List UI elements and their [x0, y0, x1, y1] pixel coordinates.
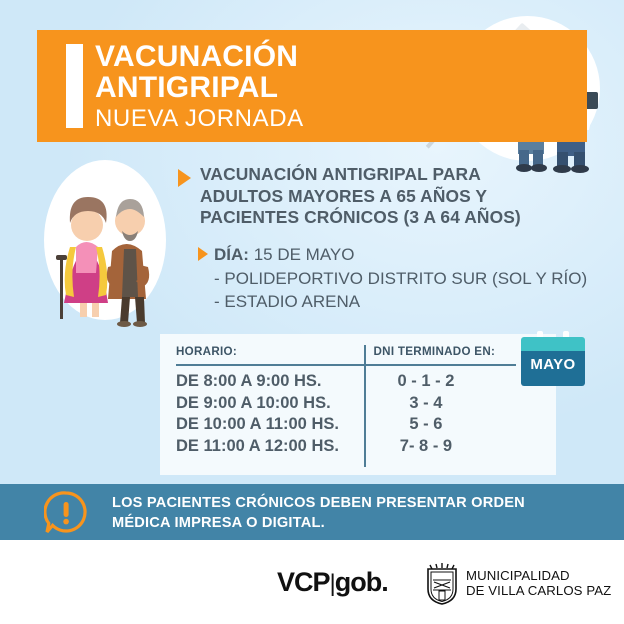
day-value: 15 DE MAYO [254, 245, 355, 264]
header-title: VACUNACIÓN ANTIGRIPAL [95, 41, 298, 103]
day-block: DÍA: 15 DE MAYO - POLIDEPORTIVO DISTRITO… [198, 243, 587, 314]
header-title-line1: VACUNACIÓN [95, 41, 298, 72]
day-details: DÍA: 15 DE MAYO - POLIDEPORTIVO DISTRITO… [214, 243, 587, 314]
arrow-marker-icon [198, 247, 208, 261]
municipality-name: MUNICIPALIDAD DE VILLA CARLOS PAZ [466, 568, 611, 598]
table-row: DE 8:00 A 9:00 HS. 0 - 1 - 2 [176, 371, 528, 393]
lead-line-1: VACUNACIÓN ANTIGRIPAL PARA [200, 164, 521, 186]
lead-block: VACUNACIÓN ANTIGRIPAL PARA ADULTOS MAYOR… [178, 164, 521, 229]
cell-time: DE 11:00 A 12:00 HS. [176, 436, 352, 458]
table-header-row: HORARIO: DNI TERMINADO EN: [176, 345, 528, 364]
lead-text: VACUNACIÓN ANTIGRIPAL PARA ADULTOS MAYOR… [200, 164, 521, 229]
venue-2: - ESTADIO ARENA [214, 290, 587, 314]
elderly-couple-illustration [40, 155, 172, 327]
municipality-line-2: DE VILLA CARLOS PAZ [466, 583, 611, 598]
cell-time: DE 10:00 A 11:00 HS. [176, 414, 352, 436]
arrow-marker-icon [178, 169, 191, 187]
notice-line-1: LOS PACIENTES CRÓNICOS DEBEN PRESENTAR O… [112, 493, 525, 513]
notice-text: LOS PACIENTES CRÓNICOS DEBEN PRESENTAR O… [112, 493, 525, 533]
vcp-brand: VCP [277, 567, 330, 597]
header-banner: VACUNACIÓN ANTIGRIPAL NUEVA JORNADA [37, 30, 587, 142]
vcp-gob-logo: VCP|gob. [277, 567, 388, 598]
header-accent-bar [66, 44, 83, 128]
table-row: DE 11:00 A 12:00 HS. 7- 8 - 9 [176, 436, 528, 458]
table-column-divider [364, 345, 366, 467]
venue-1: - POLIDEPORTIVO DISTRITO SUR (SOL Y RÍO) [214, 267, 587, 291]
day-label: DÍA: [214, 245, 249, 264]
cell-dni: 7- 8 - 9 [352, 436, 528, 458]
table-header-rule [176, 364, 516, 366]
exclamation-bubble-icon [44, 491, 88, 535]
calendar-month-label: MAYO [521, 356, 585, 373]
poster: VACUNACIÓN ANTIGRIPAL NUEVA JORNADA [0, 0, 624, 624]
header-title-line2: ANTIGRIPAL [95, 72, 298, 103]
column-header-time: HORARIO: [176, 345, 359, 358]
coat-of-arms-icon [424, 561, 460, 605]
cell-dni: 0 - 1 - 2 [352, 371, 528, 393]
schedule-table: HORARIO: DNI TERMINADO EN: DE 8:00 A 9:0… [176, 345, 528, 457]
table-row: DE 9:00 A 10:00 HS. 3 - 4 [176, 393, 528, 415]
table-row: DE 10:00 A 11:00 HS. 5 - 6 [176, 414, 528, 436]
table-body: DE 8:00 A 9:00 HS. 0 - 1 - 2 DE 9:00 A 1… [176, 371, 528, 457]
column-header-dni: DNI TERMINADO EN: [359, 345, 528, 358]
calendar-badge-icon: MAYO [521, 328, 585, 386]
cell-dni: 5 - 6 [352, 414, 528, 436]
header-subtitle: NUEVA JORNADA [95, 105, 304, 133]
day-line: DÍA: 15 DE MAYO [214, 243, 587, 267]
vcp-suffix: gob. [335, 567, 388, 597]
notice-line-2: MÉDICA IMPRESA O DIGITAL. [112, 513, 525, 533]
calendar-top-band [521, 337, 585, 351]
cell-dni: 3 - 4 [352, 393, 528, 415]
lead-line-2: ADULTOS MAYORES A 65 AÑOS Y [200, 186, 521, 208]
lead-line-3: PACIENTES CRÓNICOS (3 A 64 AÑOS) [200, 207, 521, 229]
cell-time: DE 8:00 A 9:00 HS. [176, 371, 352, 393]
municipality-line-1: MUNICIPALIDAD [466, 568, 611, 583]
cell-time: DE 9:00 A 10:00 HS. [176, 393, 352, 415]
